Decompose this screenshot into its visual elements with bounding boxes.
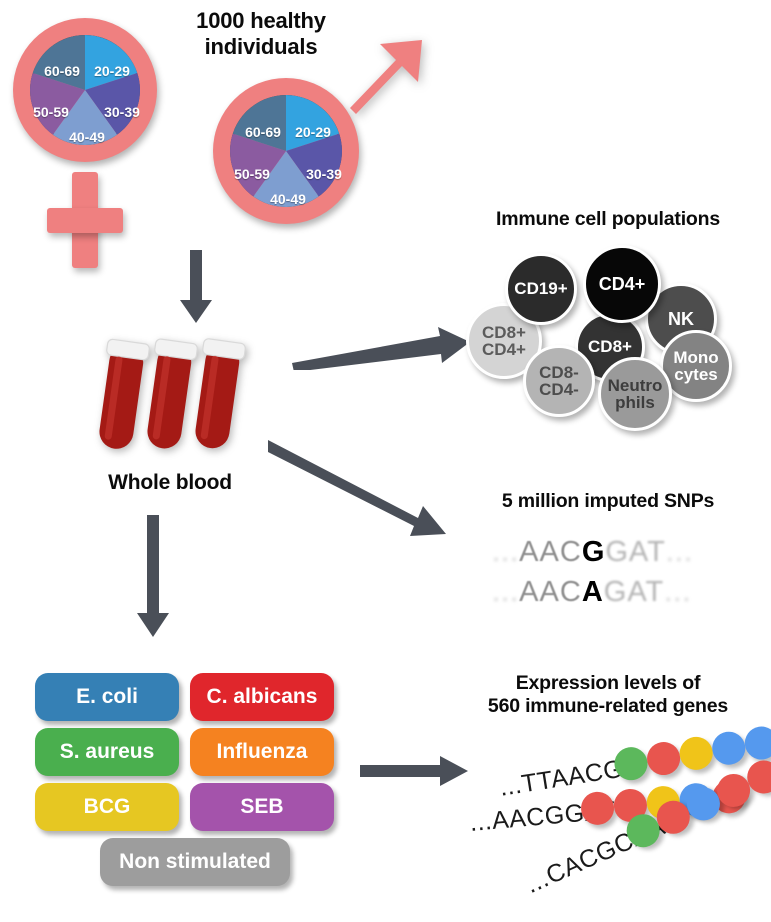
arrow-blood-to-snp bbox=[268, 440, 458, 545]
blood-tubes bbox=[95, 335, 285, 465]
stimulation-label: S. aureus bbox=[60, 740, 155, 764]
stimulation-label: C. albicans bbox=[207, 685, 318, 709]
stimulation-button-s-aureus[interactable]: S. aureus bbox=[35, 728, 179, 776]
snp-left-bases: AAC bbox=[519, 576, 582, 609]
stimulation-button-non-stimulated[interactable]: Non stimulated bbox=[100, 838, 290, 886]
immune-cell-label-line1: CD8+ bbox=[482, 324, 526, 341]
immune-cell-label-line1: Neutro bbox=[608, 377, 663, 394]
snp-allele: A bbox=[582, 576, 604, 609]
arrow-cohort-to-blood bbox=[176, 250, 216, 325]
snp-suffix: ... bbox=[666, 536, 693, 569]
cohort-title-line1: 1000 healthy bbox=[166, 8, 356, 34]
female-pie-label-30-39: 30-39 bbox=[104, 104, 140, 120]
stimulation-button-influenza[interactable]: Influenza bbox=[190, 728, 334, 776]
expression-bead bbox=[710, 729, 748, 767]
immune-cell-label-line2: CD4+ bbox=[482, 341, 526, 358]
stimulation-button-seb[interactable]: SEB bbox=[190, 783, 334, 831]
male-pie-label-30-39: 30-39 bbox=[306, 166, 342, 182]
snp-sequence-row-1: ...AACGGAT... bbox=[492, 536, 693, 569]
snp-sequence-row-2: ...AACAGAT... bbox=[492, 576, 691, 609]
immune-cell-label-line2: phils bbox=[615, 394, 655, 411]
snp-prefix: ... bbox=[492, 576, 519, 609]
immune-cell-label-line2: CD4- bbox=[539, 381, 579, 398]
immune-cell-label: CD8+ bbox=[588, 338, 632, 355]
immune-cell-label: NK bbox=[668, 310, 694, 328]
cohort-title-line2: individuals bbox=[166, 34, 356, 60]
immune-cell-cd19: CD19+ bbox=[505, 253, 577, 325]
expression-bead bbox=[742, 724, 771, 762]
snp-left-bases: AAC bbox=[519, 536, 582, 569]
stimulation-button-c-albicans[interactable]: C. albicans bbox=[190, 673, 334, 721]
expression-bead bbox=[645, 740, 683, 778]
snp-prefix: ... bbox=[492, 536, 519, 569]
immune-cell-label-line2: cytes bbox=[674, 366, 717, 383]
female-pie-label-20-29: 20-29 bbox=[94, 63, 130, 79]
female-symbol-stem-horizontal bbox=[47, 208, 123, 233]
female-pie-label-50-59: 50-59 bbox=[33, 104, 69, 120]
immune-cell-neutrophils: Neutro phils bbox=[598, 357, 672, 431]
male-pie-label-50-59: 50-59 bbox=[234, 166, 270, 182]
snp-allele: G bbox=[582, 536, 606, 569]
blood-tube-2 bbox=[141, 338, 198, 451]
snp-right-bases: GAT bbox=[605, 536, 665, 569]
immune-cell-label: CD4+ bbox=[599, 275, 646, 293]
whole-blood-label: Whole blood bbox=[60, 471, 280, 496]
female-pie-label-60-69: 60-69 bbox=[44, 63, 80, 79]
immune-cell-label: CD19+ bbox=[514, 280, 567, 297]
male-pie-label-60-69: 60-69 bbox=[245, 124, 281, 140]
expression-bead bbox=[677, 734, 715, 772]
immune-title: Immune cell populations bbox=[452, 208, 764, 231]
expression-title-line1: Expression levels of bbox=[452, 672, 764, 695]
female-pie-label-40-49: 40-49 bbox=[69, 129, 105, 145]
snp-title: 5 million imputed SNPs bbox=[452, 490, 764, 513]
cohort-title: 1000 healthy individuals bbox=[166, 8, 356, 60]
stimulation-button-e-coli[interactable]: E. coli bbox=[35, 673, 179, 721]
immune-cell-label-line1: Mono bbox=[673, 349, 718, 366]
stimulation-label: BCG bbox=[84, 795, 131, 819]
expression-title: Expression levels of 560 immune-related … bbox=[452, 672, 764, 718]
immune-cell-label-line1: CD8- bbox=[539, 364, 579, 381]
stimulation-label: SEB bbox=[240, 795, 283, 819]
stimulation-label: Influenza bbox=[216, 740, 307, 764]
immune-cell-cd4: CD4+ bbox=[583, 245, 661, 323]
diagram-canvas: 1000 healthy individuals 20-29 30-39 40-… bbox=[0, 0, 771, 922]
male-pie-label-40-49: 40-49 bbox=[270, 191, 306, 207]
blood-tube-1 bbox=[95, 339, 150, 452]
arrow-stimulation-to-expression bbox=[360, 755, 470, 789]
arrow-blood-to-stimulation bbox=[133, 515, 173, 640]
stimulation-button-bcg[interactable]: BCG bbox=[35, 783, 179, 831]
stimulation-label: E. coli bbox=[76, 685, 138, 709]
snp-suffix: ... bbox=[664, 576, 691, 609]
arrow-blood-to-immune bbox=[292, 325, 472, 370]
immune-cell-cd8neg-cd4neg: CD8- CD4- bbox=[523, 345, 595, 417]
stimulation-label: Non stimulated bbox=[119, 850, 271, 874]
blood-tube-3 bbox=[189, 338, 246, 451]
male-pie-label-20-29: 20-29 bbox=[295, 124, 331, 140]
snp-right-bases: GAT bbox=[604, 576, 664, 609]
expression-title-line2: 560 immune-related genes bbox=[452, 695, 764, 718]
